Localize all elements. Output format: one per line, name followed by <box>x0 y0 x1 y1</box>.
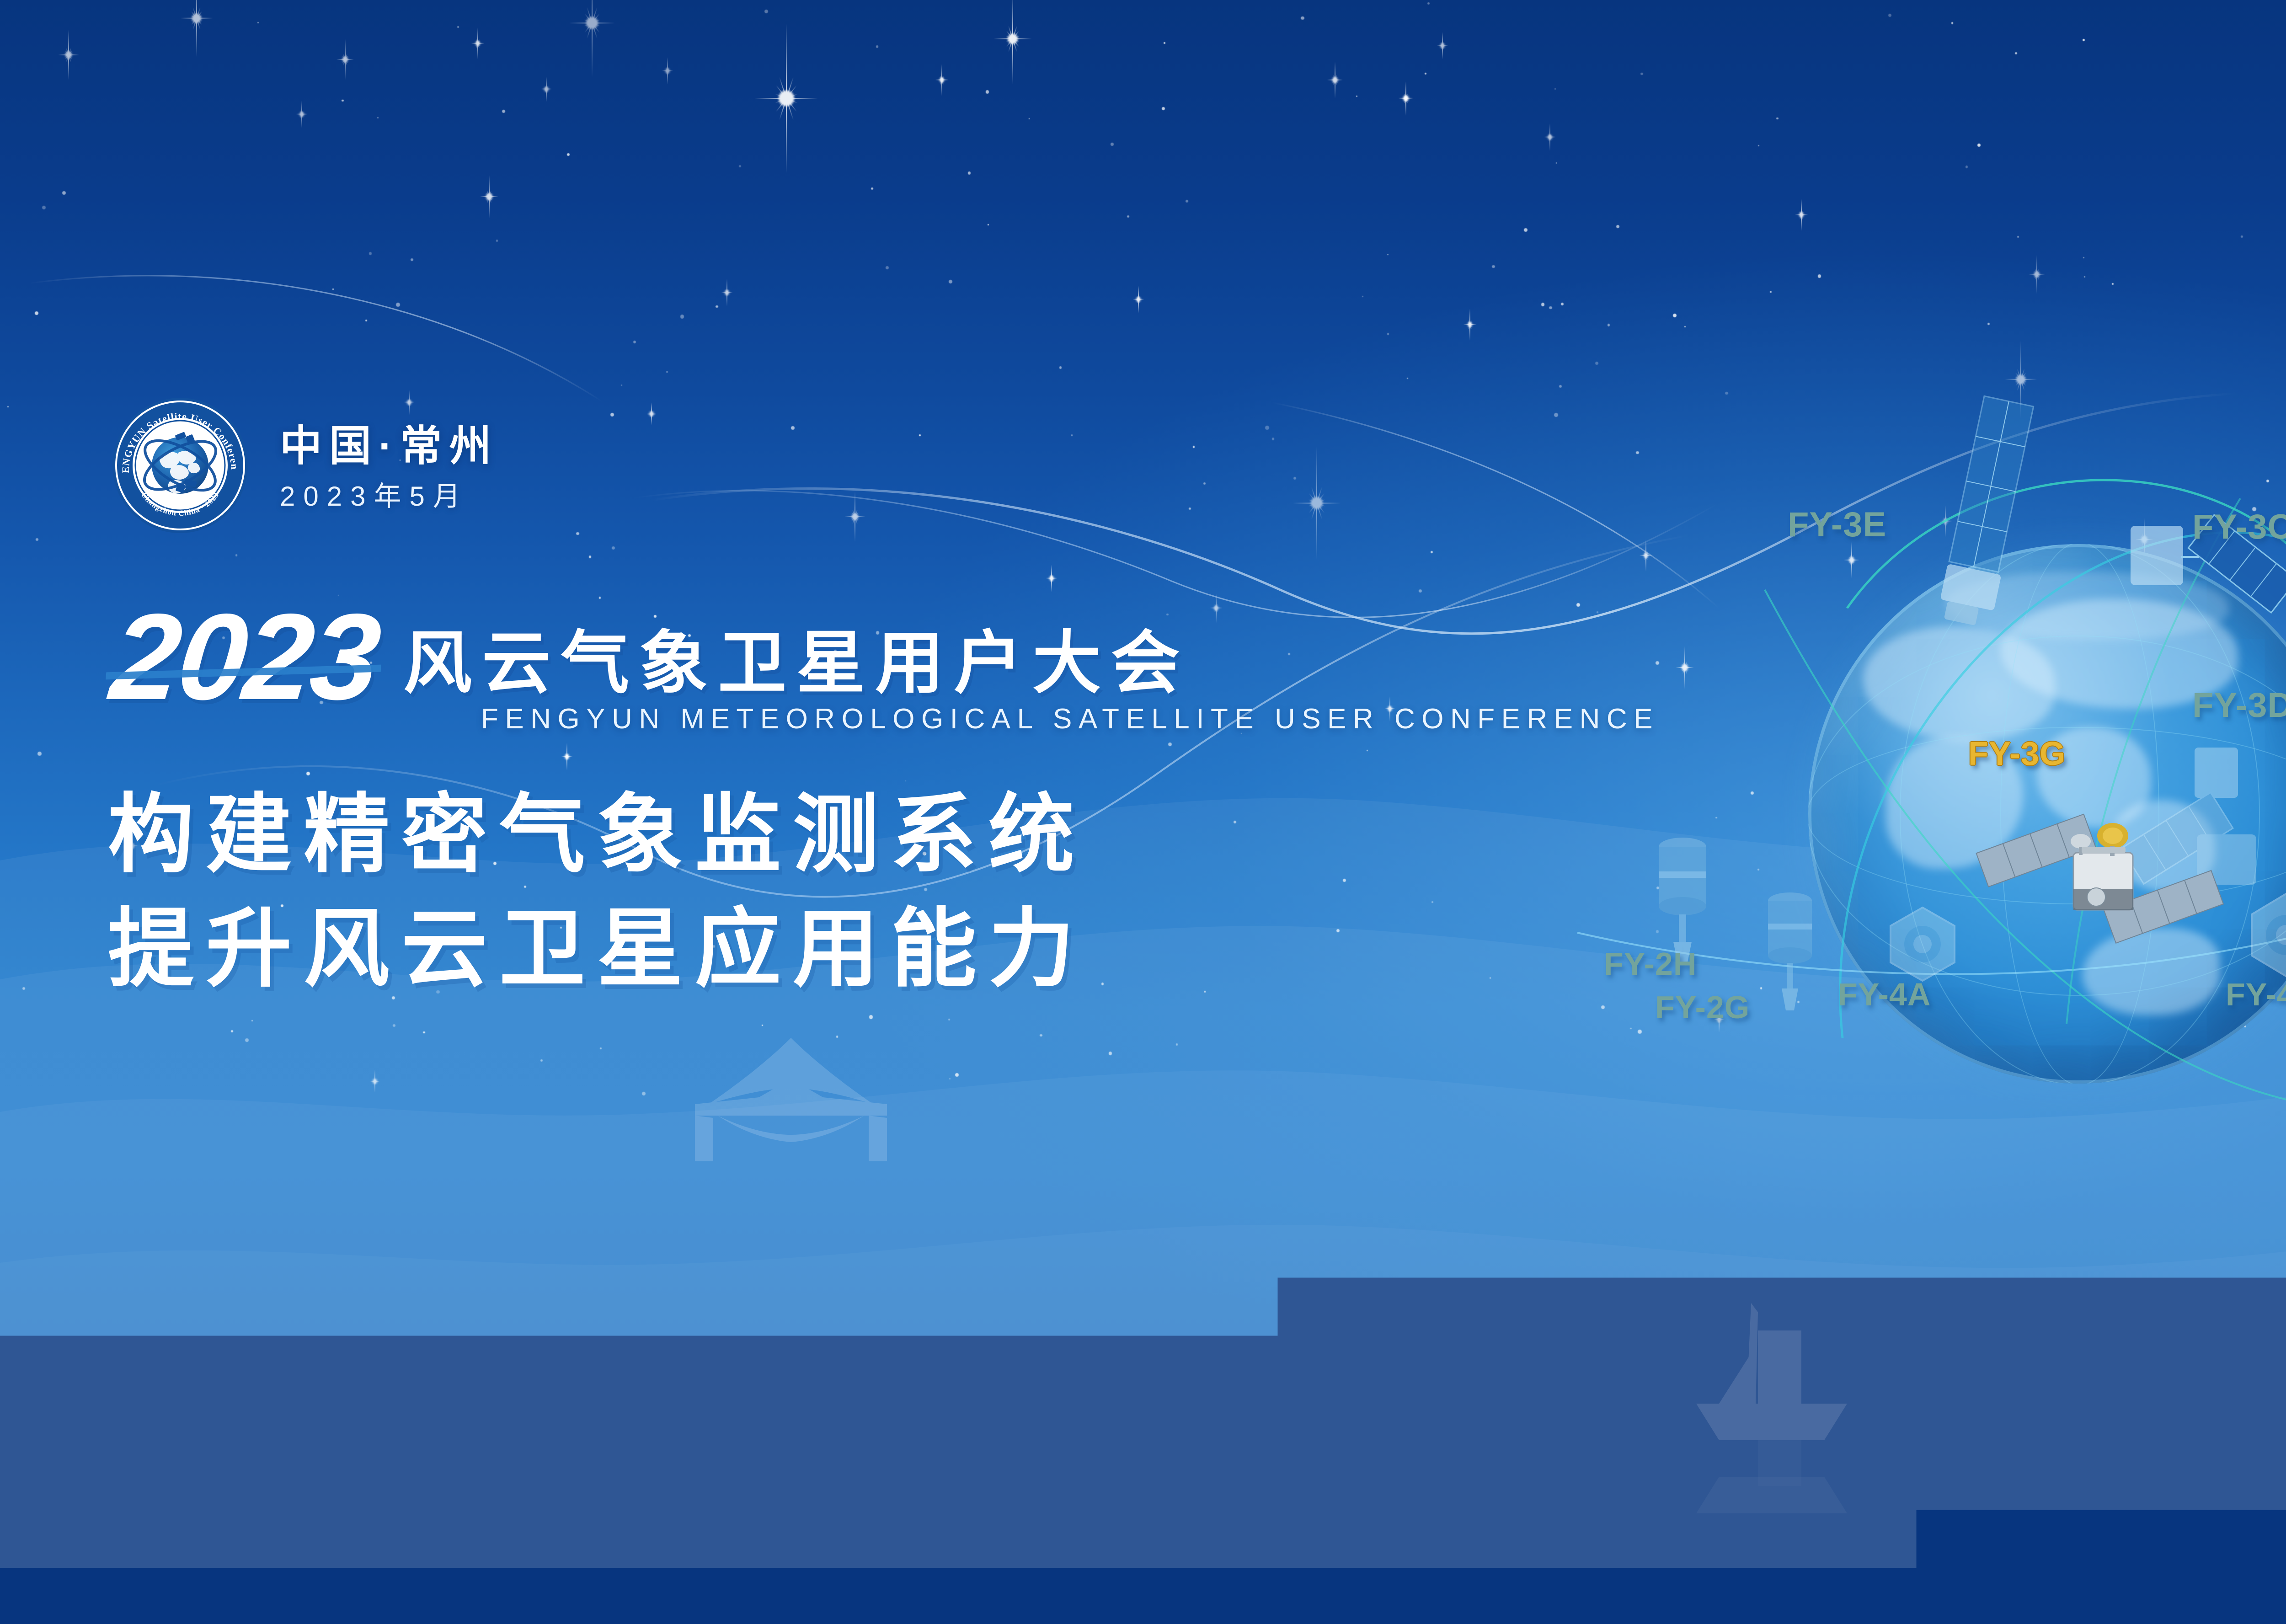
star-dot <box>332 288 334 290</box>
poster-canvas: FENGYUN Satellite User Conference Changz… <box>0 0 2286 1624</box>
star-dot <box>1176 1043 1178 1045</box>
slogan-line-2: 提升风云卫星应用能力 <box>108 892 1086 1006</box>
star-dot <box>1204 991 1206 993</box>
star-dot <box>1431 901 1433 903</box>
star-dot <box>1971 640 1974 643</box>
star-dot <box>1111 143 1113 145</box>
satellite-fy3e-icon <box>1904 393 2055 640</box>
star-dot <box>2266 480 2269 482</box>
event-header: 中国·常州 2023年5月 <box>280 425 499 510</box>
star-dot <box>791 426 795 430</box>
star-dot <box>457 26 459 28</box>
star-dot <box>1846 925 1850 929</box>
star-dot <box>1059 366 1062 369</box>
star-dot <box>968 171 971 174</box>
star-dot <box>1040 1034 1042 1037</box>
star-dot <box>1776 118 1778 119</box>
star-dot <box>235 554 238 556</box>
star-dot <box>876 45 878 48</box>
star-dot <box>739 165 741 167</box>
star-dot <box>1427 2 1430 5</box>
star-dot <box>986 90 989 93</box>
star-dot <box>62 191 66 195</box>
star-dot <box>1549 306 1552 310</box>
title-english: FENGYUN METEOROLOGICAL SATELLITE USER CO… <box>481 705 1659 733</box>
star-dot <box>1770 291 1772 293</box>
star-dot <box>1951 22 1953 24</box>
star-dot <box>2241 235 2243 238</box>
star-dot <box>365 320 368 322</box>
star-dot <box>1293 477 1296 480</box>
star-dot <box>1715 817 1717 818</box>
satellite-label-fy-2g: FY-2G <box>1655 991 1750 1023</box>
star-dot <box>2084 276 2085 278</box>
star-dot <box>42 206 46 209</box>
star-dot <box>35 311 38 315</box>
star-dot <box>1888 14 1891 17</box>
sailboat-silhouette <box>1664 1289 1875 1527</box>
title-chinese: 风云气象卫星用户大会 <box>403 629 1190 697</box>
star-dot <box>612 546 615 550</box>
star-dot <box>1751 791 1754 795</box>
star-dot <box>949 280 952 283</box>
star-dot <box>36 538 38 541</box>
star-dot <box>1336 929 1340 932</box>
star-dot <box>1362 296 1363 297</box>
star-dot <box>1419 589 1422 593</box>
conference-emblem: FENGYUN Satellite User Conference Changz… <box>112 397 249 534</box>
star-dot <box>2083 39 2085 41</box>
slogan-line-1: 构建精密气象监测系统 <box>108 777 1086 892</box>
star-dot <box>1891 651 1893 653</box>
star-dot <box>1853 907 1857 911</box>
star-dot <box>836 1036 839 1038</box>
star-dot <box>1656 661 1659 665</box>
star-dot <box>1797 1001 1800 1003</box>
star-dot <box>251 1020 253 1021</box>
star-dot <box>393 1024 395 1027</box>
star-dot <box>2030 1047 2033 1049</box>
star-dot <box>1818 274 1821 278</box>
star-dot <box>1164 42 1165 44</box>
star-dot <box>1425 73 1427 75</box>
star-dot <box>1301 16 1304 20</box>
star-dot <box>1356 96 1357 97</box>
star-dot <box>342 100 343 101</box>
star-dot <box>2015 52 2017 54</box>
satellite-fy3d-icon <box>2112 720 2286 912</box>
star-dot <box>1887 812 1888 814</box>
star-dot <box>1288 653 1290 655</box>
satellite-label-fy-3g: FY-3G <box>1968 737 2066 770</box>
star-dot <box>1757 869 1759 871</box>
star-dot <box>1656 887 1659 889</box>
star-dot <box>2061 872 2065 876</box>
title-year: 2023 <box>107 609 383 705</box>
star-dot <box>2065 965 2067 967</box>
star-dot <box>642 1092 646 1095</box>
star-dot <box>423 1031 425 1034</box>
star-dot <box>2099 598 2101 601</box>
star-dot <box>22 987 25 990</box>
star-dot <box>1029 118 1030 119</box>
star-dot <box>1725 392 1728 395</box>
star-dot <box>245 1038 249 1042</box>
star-dot <box>988 224 989 225</box>
satellite-label-fy-2h: FY-2H <box>1604 948 1697 980</box>
star-dot <box>886 266 889 269</box>
star-dot <box>1969 651 1971 652</box>
satellite-fy3g-icon <box>1959 777 2233 969</box>
star-dot <box>411 258 413 261</box>
star-dot <box>716 305 718 308</box>
star-dot <box>2244 1026 2246 1027</box>
star-dot <box>1636 451 1639 454</box>
star-dot <box>1608 324 1610 326</box>
star-dot <box>502 110 505 113</box>
star-dot <box>37 752 41 755</box>
star-dot <box>1630 1028 1632 1030</box>
star-dot <box>1673 314 1677 317</box>
star-dot <box>1186 200 1188 203</box>
star-dot <box>1168 743 1172 746</box>
satellite-label-fy-3d: FY-3D <box>2192 688 2286 723</box>
star-dot <box>2006 1017 2009 1020</box>
main-title-row: 2023 风云气象卫星用户大会 <box>112 609 1190 705</box>
star-dot <box>496 240 498 242</box>
star-dot <box>1684 326 1686 328</box>
star-dot <box>1272 438 1275 440</box>
star-dot <box>1127 215 1129 218</box>
star-dot <box>7 406 9 407</box>
star-dot <box>1203 482 1206 485</box>
star-dot <box>369 252 372 255</box>
star-dot <box>1367 750 1368 751</box>
star-dot <box>1554 413 1558 417</box>
star-dot <box>633 341 636 343</box>
star-dot <box>257 22 259 23</box>
event-date: 2023年5月 <box>280 483 499 510</box>
star-dot <box>1960 1025 1963 1029</box>
star-dot <box>1265 426 1269 430</box>
star-dot <box>1760 987 1763 989</box>
star-dot <box>1946 948 1949 951</box>
star-dot <box>1193 446 1195 448</box>
star-dot <box>1601 1005 1605 1009</box>
landmark-silhouette <box>640 1024 942 1175</box>
satellite-label-fy-3e: FY-3E <box>1788 507 1886 542</box>
star-dot <box>1640 73 1643 75</box>
star-dot <box>621 385 622 386</box>
star-dot <box>610 413 614 417</box>
star-dot <box>1638 1030 1642 1034</box>
star-dot <box>871 187 873 190</box>
star-dot <box>377 117 379 118</box>
satellite-label-fy-4b: FY-4B <box>2226 978 2286 1010</box>
star-dot <box>666 371 668 373</box>
star-dot <box>1234 821 1236 823</box>
star-dot <box>1490 977 1491 979</box>
star-dot <box>1559 385 1562 388</box>
star-dot <box>1554 88 1556 90</box>
star-dot <box>948 1019 950 1020</box>
star-dot <box>1977 144 1980 146</box>
star-dot <box>231 1030 233 1032</box>
star-dot <box>1556 162 1557 164</box>
star-dot <box>1987 323 1990 325</box>
star-dot <box>1431 551 1433 554</box>
star-dot <box>567 153 570 156</box>
star-dot <box>396 303 400 306</box>
star-dot <box>1407 378 1408 379</box>
star-dot <box>1387 254 1389 256</box>
globe-glow <box>1758 494 2286 1134</box>
star-dot <box>1071 434 1073 436</box>
star-dot <box>1492 265 1495 268</box>
star-dot <box>2096 652 2098 655</box>
star-dot <box>1524 228 1528 232</box>
star-dot <box>2017 236 2019 238</box>
star-dot <box>1561 303 1564 305</box>
star-dot <box>1189 507 1191 510</box>
star-dot <box>1576 603 1580 607</box>
star-dot <box>764 10 769 14</box>
star-dot <box>949 1078 951 1080</box>
star-dot <box>1820 778 1822 780</box>
star-dot <box>2169 629 2171 630</box>
satellite-label-fy-3c: FY-3C <box>2192 510 2286 545</box>
star-dot <box>1101 983 1104 985</box>
star-dot <box>1597 611 1598 613</box>
star-dot <box>306 772 310 775</box>
star-dot <box>1656 930 1659 933</box>
star-dot <box>1758 145 1759 146</box>
satellite-label-fy-4a: FY-4A <box>1838 978 1931 1010</box>
slogan-block: 构建精密气象监测系统 提升风云卫星应用能力 <box>108 777 1086 1006</box>
star-dot <box>762 1025 763 1026</box>
star-dot <box>1616 225 1619 228</box>
star-dot <box>1109 1052 1112 1055</box>
star-dot <box>2083 257 2084 258</box>
star-dot <box>1595 362 1598 365</box>
star-dot <box>1966 166 1968 168</box>
star-dot <box>2112 283 2114 285</box>
star-dot <box>1162 107 1165 110</box>
star-dot <box>576 532 579 535</box>
star-dot <box>919 434 921 436</box>
star-dot <box>589 556 592 558</box>
star-dot <box>869 1015 873 1019</box>
star-dot <box>1387 333 1389 335</box>
star-dot <box>680 315 684 319</box>
satellite-fy2g-icon <box>1751 882 1829 1029</box>
star-dot <box>600 1047 602 1049</box>
star-dot <box>1343 879 1346 882</box>
star-dot <box>599 597 601 599</box>
satellite-fy3c-icon <box>2117 475 2286 658</box>
star-dot <box>1541 303 1544 306</box>
star-dot <box>955 1073 959 1077</box>
star-dot <box>540 1059 543 1062</box>
event-city: 中国·常州 <box>280 425 499 467</box>
